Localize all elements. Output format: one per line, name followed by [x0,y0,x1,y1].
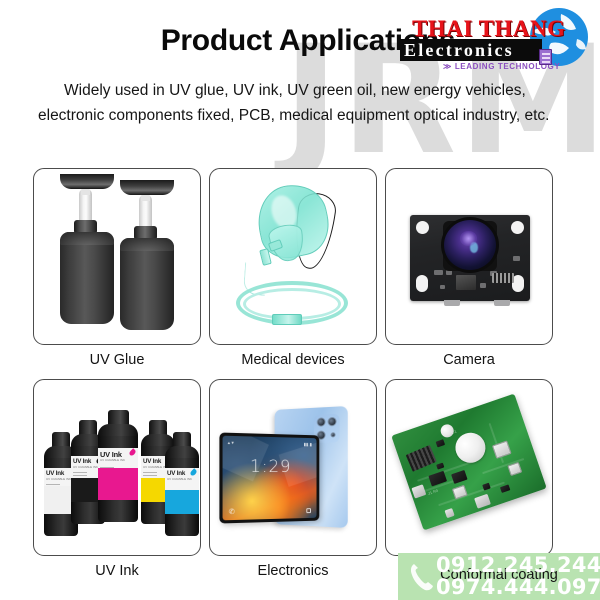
applications-grid: UV Glue Medical devices [33,168,553,584]
usb-port [444,508,454,518]
contact-phone-1[interactable]: 0912.245.244 [436,553,600,577]
camera-lens [441,217,499,273]
smd-component [436,439,446,447]
smd-component [480,283,486,288]
heatsink [406,445,437,472]
camera-module-image [386,169,553,345]
label-subtitle: UV CURABLE INK [167,477,192,481]
bottle-shoulder [120,238,174,251]
logo-brand-secondary: Electronics [404,40,540,60]
pin-header [492,273,514,283]
bottle-shoulder [60,232,114,245]
label-title: UV Ink [143,458,161,465]
page-description: Widely used in UV glue, UV ink, UV green… [38,78,566,128]
ink-drop-icon [189,468,197,476]
phone-app-icon[interactable]: ✆ [229,508,235,516]
ic-chip [451,470,467,484]
pcb-board: J1 R4 C1 [391,394,546,531]
contact-phone-2[interactable]: 0974.444.097 [436,575,600,599]
grid-item-caption: UV Ink [33,556,201,584]
uv-glue-card [33,168,201,345]
usb-port [474,494,491,509]
camera-card [385,168,553,345]
bottle-base [60,174,114,189]
label-color-band [165,490,199,514]
phone-handset-icon [408,562,434,592]
grid-item-caption: Electronics [209,556,377,584]
bottle-nozzle-icon [79,189,92,223]
electrolytic-cap-large [451,429,489,467]
board-tab [444,300,460,306]
grid-item-uv-glue[interactable]: UV Glue [33,168,201,373]
product-applications-page: JRM Product Applications Widely used in … [0,0,600,600]
label-subtitle: UV CURABLE INK [100,458,125,462]
usb-port [411,484,426,498]
camera-flash-dot [331,432,336,437]
bottle-nozzle-icon [139,195,152,229]
recents-nav-icon[interactable] [306,508,311,513]
grid-item-caption: Camera [385,345,553,373]
bottle-label: UV Ink UV CURABLE INK [165,468,199,514]
oxygen-mask-image [210,169,377,345]
ink-drop-icon [128,448,136,456]
smd-component [440,285,445,289]
grid-item-medical-devices[interactable]: Medical devices [209,168,377,373]
board-tab [494,300,510,306]
contact-overlay-band: Conformal coating 0912.245.244 0974.444.… [398,553,600,600]
uv-ink-bottles-image: UV Ink UV CURABLE INK UV Ink [34,380,201,556]
grid-item-caption: UV Glue [33,345,201,373]
bottle-base [120,180,174,195]
smd-component [500,484,510,493]
medical-devices-card [209,168,377,345]
silkscreen-text: C1 [451,429,457,435]
bottle-body [120,238,174,330]
label-title: UV Ink [46,470,64,477]
label-title: UV Ink [73,458,91,465]
status-bar-right: ▮▮ ▮ [304,442,312,448]
conformal-coating-card: J1 R4 C1 [385,379,553,556]
camera-pcb [410,215,530,301]
label-subtitle: UV CURABLE INK [46,477,71,481]
camera-chip [456,275,476,290]
grid-item-uv-ink[interactable]: UV Ink UV CURABLE INK UV Ink [33,379,201,584]
smd-component [436,463,444,470]
smd-component [434,270,443,275]
green-pcb-image: J1 R4 C1 [386,380,553,556]
grid-item-electronics[interactable]: ▴ ▾ ▮▮ ▮ 1:29 ✆ Electronics [209,379,377,584]
bottle-label: UV Ink UV CURABLE INK [98,448,138,500]
status-bar-left: ▴ ▾ [228,440,234,446]
thai-thang-logo[interactable]: THAI THANG Electronics ≫ LEADING TECHNOL… [399,3,597,75]
smd-component [482,483,491,491]
connector [507,462,522,476]
connector [452,485,468,500]
mount-hole [511,221,524,234]
tablet-devices-image: ▴ ▾ ▮▮ ▮ 1:29 ✆ [210,380,377,556]
label-title: UV Ink [167,470,185,477]
logo-badge-icon [539,49,552,65]
camera-lens-dot [317,417,326,426]
label-color-band [98,468,138,500]
uv-ink-card: UV Ink UV CURABLE INK UV Ink [33,379,201,556]
bottle-body [60,232,114,324]
mask-tube-endpiece [272,314,302,325]
mount-hole [416,221,429,234]
mount-hole [416,275,428,292]
electronics-card: ▴ ▾ ▮▮ ▮ 1:29 ✆ [209,379,377,556]
grid-item-camera[interactable]: Camera [385,168,553,373]
grid-item-caption: Medical devices [209,345,377,373]
label-subtitle: UV CURABLE INK [73,465,98,469]
tablet-screen: ▴ ▾ ▮▮ ▮ 1:29 ✆ [223,436,317,521]
logo-tagline-prefix: ≫ [443,62,452,71]
smd-component [513,256,520,261]
lockscreen-clock: 1:29 [223,456,317,477]
pcb-trace [438,482,505,507]
camera-lens-dot [328,417,337,427]
tablet-front: ▴ ▾ ▮▮ ▮ 1:29 ✆ [219,432,319,523]
uv-glue-bottles-image [34,169,201,345]
